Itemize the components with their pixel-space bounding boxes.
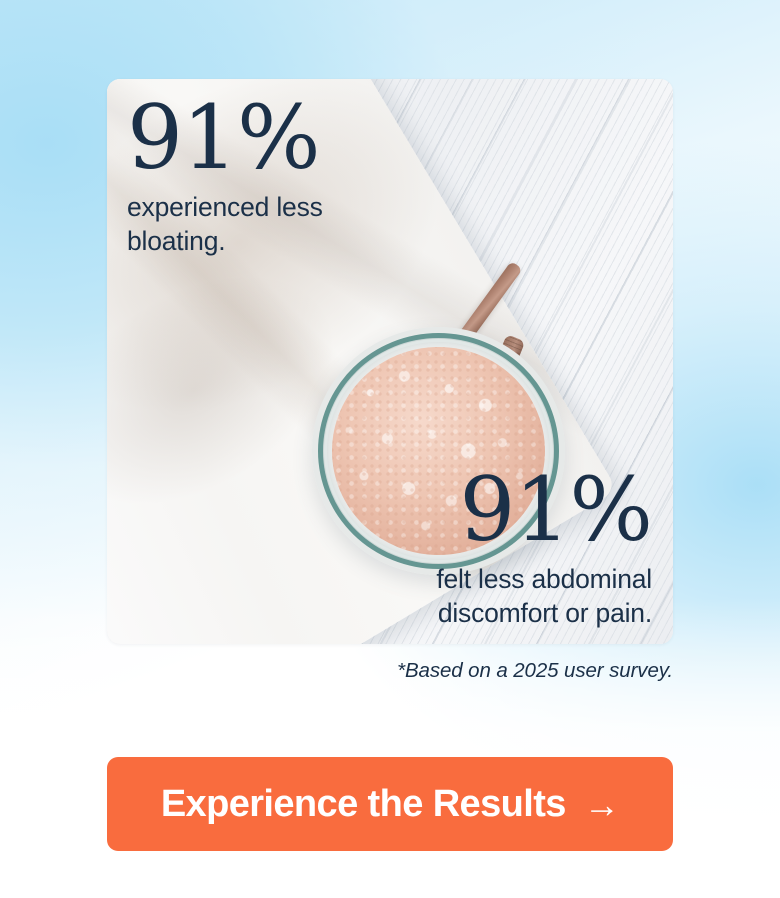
cta-label: Experience the Results (161, 783, 566, 826)
experience-the-results-button[interactable]: Experience the Results → (107, 757, 673, 851)
stat-description: experienced less bloating. (127, 190, 323, 258)
arrow-right-icon: → (584, 787, 619, 823)
stat-percent-value: 91% (436, 467, 652, 553)
survey-footnote: *Based on a 2025 user survey. (0, 659, 673, 683)
stat-description: felt less abdominal discomfort or pain. (436, 562, 652, 630)
stats-photo-card: 91% experienced less bloating. 91% felt … (107, 79, 673, 644)
stat-percent-value: 91% (127, 95, 323, 181)
stat-less-abdominal-discomfort: 91% felt less abdominal discomfort or pa… (436, 467, 652, 631)
stat-less-bloating: 91% experienced less bloating. (127, 95, 323, 259)
